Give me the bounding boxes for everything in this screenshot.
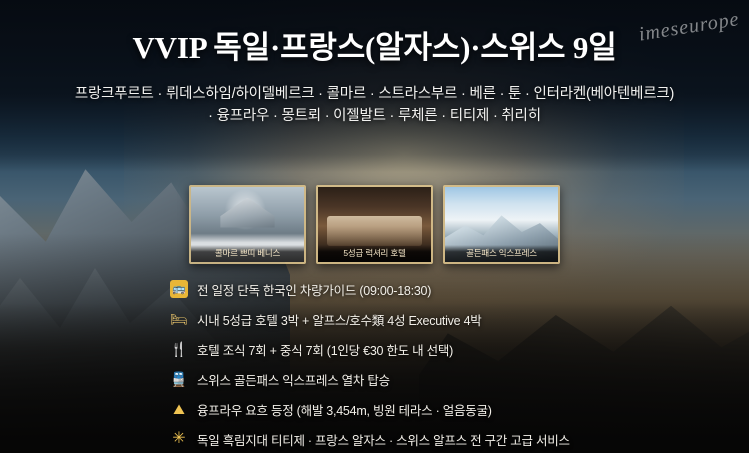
list-item: ✳ 독일 흑림지대 티티제 · 프랑스 알자스 · 스위스 알프스 전 구간 고… [170,426,670,452]
photo-card-caption: 5성급 럭셔리 호텔 [318,245,431,262]
bus-icon: 🚌 [170,280,188,298]
feature-text: 독일 흑림지대 티티제 · 프랑스 알자스 · 스위스 알프스 전 구간 고급 … [197,430,570,449]
mountain-icon: ⛰ [170,400,188,418]
poster-header: VVIP 독일·프랑스(알자스)·스위스 9일 프랑크푸르트 · 뤼데스하임/하… [0,0,749,127]
feature-text: 전 일정 단독 한국인 차량가이드 (09:00-18:30) [197,280,431,299]
feature-text: 스위스 골든패스 익스프레스 열차 탑승 [197,370,390,389]
list-item: ⛰ 융프라우 요흐 등정 (해발 3,454m, 빙원 테라스 · 얼음동굴) [170,396,670,422]
photo-card[interactable]: 콜마르 쁘띠 베니스 [189,185,306,264]
photo-card[interactable]: 골든패스 익스프레스 [443,185,560,264]
feature-text: 시내 5성급 호텔 3박 + 알프스/호수類 4성 Executive 4박 [197,310,482,329]
list-item: 🍴 호텔 조식 7회 + 중식 7회 (1인당 €30 한도 내 선택) [170,336,670,362]
snowflake-icon: ✳ [170,430,188,448]
poster-root: imeseurope VVIP 독일·프랑스(알자스)·스위스 9일 프랑크푸르… [0,0,749,453]
page-title: VVIP 독일·프랑스(알자스)·스위스 9일 [0,22,749,67]
photo-card-row: 콜마르 쁘띠 베니스 5성급 럭셔리 호텔 골든패스 익스프레스 [0,185,749,264]
list-item: 🚌 전 일정 단독 한국인 차량가이드 (09:00-18:30) [170,276,670,302]
train-icon: 🚆 [170,370,188,388]
list-item: 🛏 시내 5성급 호텔 3박 + 알프스/호수類 4성 Executive 4박 [170,306,670,332]
itinerary-cities: 프랑크푸르트 · 뤼데스하임/하이델베르크 · 콜마르 · 스트라스부르 · 베… [0,83,749,127]
itinerary-line-2: · 융프라우 · 몽트뢰 · 이젤발트 · 루체른 · 티티제 · 취리히 [0,105,749,127]
photo-card-caption: 골든패스 익스프레스 [445,245,558,262]
cutlery-icon: 🍴 [170,340,188,358]
itinerary-line-1: 프랑크푸르트 · 뤼데스하임/하이델베르크 · 콜마르 · 스트라스부르 · 베… [0,83,749,105]
photo-card[interactable]: 5성급 럭셔리 호텔 [316,185,433,264]
bed-icon: 🛏 [170,310,188,328]
photo-card-caption: 콜마르 쁘띠 베니스 [191,245,304,262]
feature-text: 융프라우 요흐 등정 (해발 3,454m, 빙원 테라스 · 얼음동굴) [197,400,492,419]
feature-text: 호텔 조식 7회 + 중식 7회 (1인당 €30 한도 내 선택) [197,340,453,359]
feature-list: 🚌 전 일정 단독 한국인 차량가이드 (09:00-18:30) 🛏 시내 5… [170,276,670,453]
list-item: 🚆 스위스 골든패스 익스프레스 열차 탑승 [170,366,670,392]
